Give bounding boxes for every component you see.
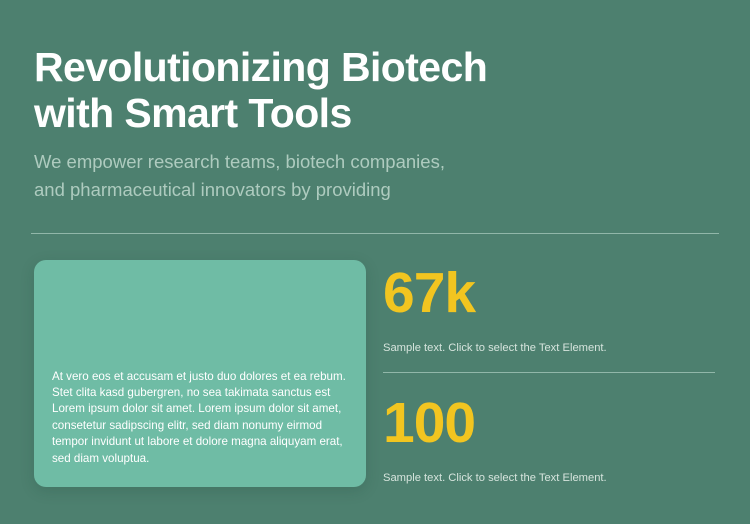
- stat-item-1[interactable]: 67k Sample text. Click to select the Tex…: [383, 264, 717, 356]
- page-subtitle-line-2: and pharmaceutical innovators by providi…: [34, 176, 634, 204]
- page-title-line-1: Revolutionizing Biotech: [34, 44, 654, 90]
- stat-item-2[interactable]: 100 Sample text. Click to select the Tex…: [383, 394, 717, 486]
- stat-value-2: 100: [383, 394, 717, 452]
- stat-caption-2[interactable]: Sample text. Click to select the Text El…: [383, 452, 717, 486]
- stat-value-1: 67k: [383, 264, 717, 322]
- page-subtitle-line-1: We empower research teams, biotech compa…: [34, 148, 634, 176]
- page-title-line-2: with Smart Tools: [34, 90, 654, 136]
- feature-card[interactable]: At vero eos et accusam et justo duo dolo…: [34, 260, 366, 487]
- feature-card-body: At vero eos et accusam et justo duo dolo…: [52, 369, 348, 467]
- page-subtitle: We empower research teams, biotech compa…: [34, 148, 634, 204]
- stats-divider: [383, 372, 715, 373]
- hero-divider: [31, 233, 719, 234]
- stat-caption-1[interactable]: Sample text. Click to select the Text El…: [383, 322, 717, 356]
- page-title: Revolutionizing Biotech with Smart Tools: [34, 44, 654, 136]
- hero-section: Revolutionizing Biotech with Smart Tools…: [0, 0, 750, 524]
